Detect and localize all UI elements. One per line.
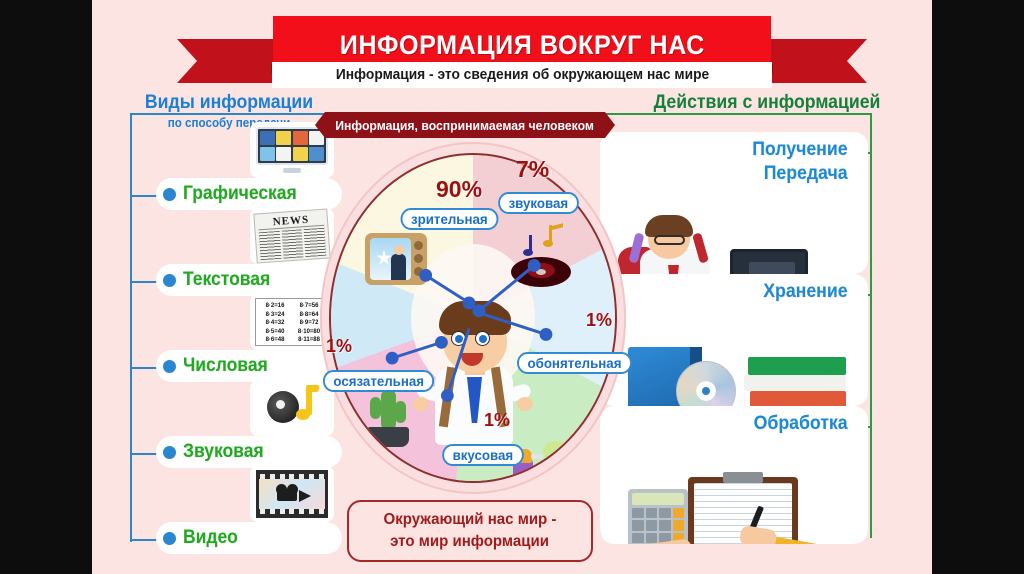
pie-label-touch: осязательная — [323, 370, 435, 392]
list-item-label: Звуковая — [183, 441, 264, 463]
tv-icon — [365, 233, 427, 285]
left-tree-top-rule — [130, 113, 326, 115]
vinyl-record-icon — [509, 247, 575, 287]
pie-value-visual: 90% — [436, 176, 482, 203]
list-item-label: Видео — [183, 527, 238, 549]
infographic-poster: ИНФОРМАЦИЯ ВОКРУГ НАС Информация - это с… — [92, 0, 932, 574]
information-actions-list: Получение Передача — [600, 110, 924, 560]
information-types-list: Графическая NEWS Текстовая — [112, 110, 342, 560]
page-title: ИНФОРМАЦИЯ ВОКРУГ НАС — [339, 30, 704, 61]
card-processing[interactable]: Обработка — [600, 406, 868, 544]
left-tree-spine — [130, 113, 132, 542]
pie-label-visual: зрительная — [401, 208, 499, 230]
bullet-icon — [163, 360, 176, 373]
list-item-graphic-pill[interactable]: Графическая — [156, 178, 342, 210]
footer-line-1: Окружающий нас мир - — [384, 509, 557, 531]
pie-label-taste: вкусовая — [442, 444, 523, 466]
footer-line-2: это мир информации — [391, 531, 550, 553]
card-title-line1: Получение — [619, 132, 868, 161]
pie-value-smell: 1% — [586, 310, 612, 331]
table-cell: 8·3=24 — [258, 311, 292, 320]
list-item-label: Числовая — [183, 355, 268, 377]
list-item-video-pill[interactable]: Видео — [156, 522, 342, 554]
cd-and-books-icon — [600, 303, 868, 406]
pie-value-audio: 7% — [516, 156, 549, 183]
list-item-audio-pill[interactable]: Звуковая — [156, 436, 342, 468]
pie-label-audio: звуковая — [498, 192, 579, 214]
chart-title-banner: Информация, воспринимаемая человеком — [315, 112, 615, 138]
newspaper-icon: NEWS — [250, 208, 334, 264]
speaker-note-icon — [250, 380, 334, 436]
person-at-computer-icon — [600, 185, 868, 274]
pie-value-touch: 1% — [326, 336, 352, 357]
chart-title: Информация, воспринимаемая человеком — [336, 118, 595, 133]
bullet-icon — [163, 446, 176, 459]
right-tree-top-rule — [604, 113, 872, 115]
cactus-icon — [359, 385, 417, 447]
table-cell: 8·6=48 — [258, 336, 292, 345]
list-item-audio[interactable]: Звуковая — [156, 382, 342, 468]
clipboard-calculator-icon — [600, 435, 868, 544]
card-title-line2: Передача — [619, 161, 868, 185]
list-item-label: Текстовая — [183, 269, 270, 291]
list-item-text[interactable]: NEWS Текстовая — [156, 210, 342, 296]
table-cell: 8·4=32 — [258, 319, 292, 328]
card-storage[interactable]: Хранение — [600, 274, 868, 406]
pie-label-smell: обонятельная — [517, 352, 632, 374]
card-title-line1: Хранение — [619, 274, 868, 303]
right-tree-spine — [870, 113, 872, 538]
bullet-icon — [163, 274, 176, 287]
card-title-line1: Обработка — [619, 406, 868, 435]
list-item-label: Графическая — [183, 183, 297, 205]
list-item-graphic[interactable]: Графическая — [156, 124, 342, 210]
card-receive-transmit[interactable]: Получение Передача — [600, 132, 868, 274]
film-camera-icon — [250, 466, 334, 522]
table-cell: 8·5=40 — [258, 328, 292, 337]
table-cell: 8·2=16 — [258, 302, 292, 311]
footer-banner: Окружающий нас мир - это мир информации — [347, 500, 593, 562]
bullet-icon — [163, 188, 176, 201]
subtitle-text: Информация - это сведения об окружающем … — [335, 67, 708, 83]
list-item-text-pill[interactable]: Текстовая — [156, 264, 342, 296]
subtitle-bar: Информация - это сведения об окружающем … — [272, 62, 772, 88]
bullet-icon — [163, 532, 176, 545]
list-item-video[interactable]: Видео — [156, 468, 342, 554]
pie-value-taste: 1% — [484, 410, 510, 431]
pie-chart-outer-ring: 90% зрительная 7% звуковая 1% обонятельн… — [320, 142, 626, 494]
list-item-numeric[interactable]: 8·2=168·7=568·3=248·8=648·4=328·9=728·5=… — [156, 296, 342, 382]
screenshot-stage: ИНФОРМАЦИЯ ВОКРУГ НАС Информация - это с… — [0, 0, 1024, 574]
list-item-numeric-pill[interactable]: Числовая — [156, 350, 342, 382]
